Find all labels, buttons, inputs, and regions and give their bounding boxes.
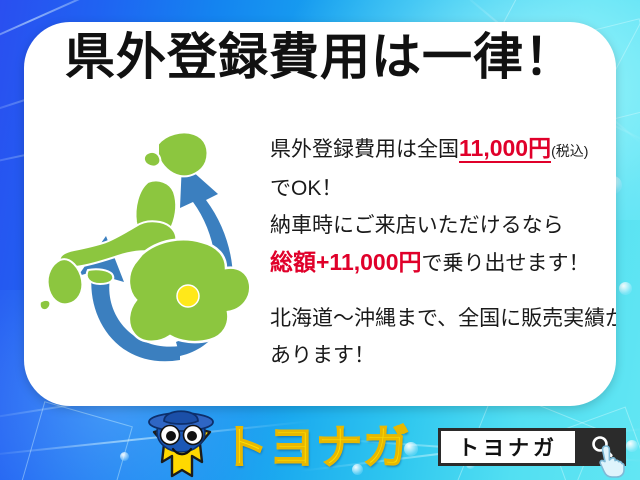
search-input-value: トヨナガ <box>458 432 558 462</box>
footer-banner: トヨナガ トヨナガ <box>0 404 640 480</box>
copy-line-4: 総額+11,000円で乗り出せます！ <box>270 244 606 282</box>
map-okinawa <box>40 300 51 310</box>
japan-map-illustration <box>30 104 278 394</box>
mascot-pupil-right <box>187 431 197 441</box>
hand-pointer-icon <box>596 444 630 478</box>
tax-note: (税込) <box>551 143 588 159</box>
mascot-pupil-left <box>166 431 176 441</box>
copy-line-6: あります！ <box>270 337 606 374</box>
copy-line-2: でOK！ <box>270 170 606 207</box>
page-title: 県外登録費用は一律！ <box>24 32 616 82</box>
copy-line-1-prefix: 県外登録費用は全国 <box>270 138 459 161</box>
brand-logo-text: トヨナガ <box>222 424 410 470</box>
map-location-marker <box>177 285 199 307</box>
copy-line-5: 北海道〜沖縄まで、全国に販売実績が <box>270 300 606 337</box>
body-copy: 県外登録費用は全国11,000円(税込) でOK！ 納車時にご来店いただけるなら… <box>270 130 606 374</box>
copy-line-3: 納車時にご来店いただけるなら <box>270 207 606 244</box>
map-hokkaido <box>158 132 208 176</box>
mascot-hat-crown <box>164 411 198 424</box>
total-price-highlight: 総額+11,000円 <box>270 249 422 275</box>
advertisement-banner: 県外登録費用は一律！ <box>0 0 640 480</box>
price-highlight: 11,000円 <box>459 135 551 163</box>
copy-line-4-rest: で乗り出せます！ <box>422 252 590 275</box>
search-input[interactable]: トヨナガ <box>438 428 578 466</box>
copy-spacer <box>270 282 606 300</box>
map-shikoku <box>87 269 114 284</box>
toyonaga-mascot-icon <box>140 406 222 480</box>
copy-line-1: 県外登録費用は全国11,000円(税込) <box>270 130 606 170</box>
content-card: 県外登録費用は一律！ <box>24 22 616 406</box>
map-hokkaido-tip <box>144 152 160 167</box>
